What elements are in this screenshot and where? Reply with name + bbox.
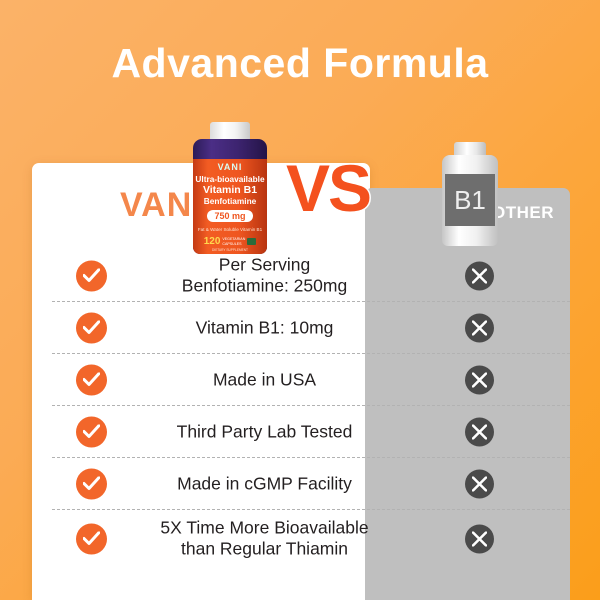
page-title: Advanced Formula <box>0 40 600 87</box>
feature-line1: Third Party Lab Tested <box>177 421 353 441</box>
cross-icon <box>465 525 494 554</box>
other-bottle-image: B1 <box>440 142 500 246</box>
other-bottle-label-text: B1 <box>454 185 486 216</box>
bottle-seal-badge <box>247 238 256 245</box>
product-bottle-image: VANI Ultra-bioavailable Vitamin B1 Benfo… <box>188 122 272 254</box>
check-icon <box>76 365 107 396</box>
feature-row: Third Party Lab Tested <box>32 406 570 458</box>
bottle-count-sub: VEGETARIAN CAPSULES <box>222 237 245 245</box>
cross-icon <box>465 366 494 395</box>
feature-line1: Vitamin B1: 10mg <box>196 317 334 337</box>
feature-row: 5X Time More Bioavailable than Regular T… <box>32 510 570 568</box>
check-icon <box>76 417 107 448</box>
cross-icon <box>465 470 494 499</box>
feature-line1: 5X Time More Bioavailable <box>160 518 368 538</box>
feature-line2: than Regular Thiamin <box>142 539 387 560</box>
check-icon <box>76 261 107 292</box>
other-bottle-label: B1 <box>445 174 495 226</box>
bottle-count: 120 <box>204 236 221 247</box>
feature-text: Vitamin B1: 10mg <box>142 317 387 338</box>
feature-row: Made in cGMP Facility <box>32 458 570 510</box>
bottle-line2: Vitamin B1 <box>193 184 267 196</box>
feature-text: Per Serving Benfotiamine: 250mg <box>142 255 387 298</box>
vs-label: VS <box>286 150 370 226</box>
bottle-label: VANI Ultra-bioavailable Vitamin B1 Benfo… <box>193 159 267 254</box>
feature-text: Made in cGMP Facility <box>142 473 387 494</box>
bottle-dose-badge: 750 mg <box>207 210 252 222</box>
feature-row: Made in USA <box>32 354 570 406</box>
bottle-line1: Ultra-bioavailable <box>193 174 267 184</box>
cross-icon <box>465 262 494 291</box>
feature-text: Made in USA <box>142 369 387 390</box>
feature-line2: Benfotiamine: 250mg <box>142 276 387 297</box>
bottle-supplement-text: DIETARY SUPPLEMENT <box>193 248 267 252</box>
feature-row: Vitamin B1: 10mg <box>32 302 570 354</box>
cross-icon <box>465 314 494 343</box>
feature-comparison-list: Per Serving Benfotiamine: 250mg Vitamin … <box>32 250 570 568</box>
bottle-count-line2: CAPSULES <box>222 242 241 246</box>
cross-icon <box>465 418 494 447</box>
feature-line1: Made in USA <box>213 369 316 389</box>
bottle-brand-text: VANI <box>193 162 267 172</box>
check-icon <box>76 313 107 344</box>
check-icon <box>76 524 107 555</box>
feature-text: Third Party Lab Tested <box>142 421 387 442</box>
check-icon <box>76 469 107 500</box>
feature-row: Per Serving Benfotiamine: 250mg <box>32 250 570 302</box>
bottle-descriptor: Fat & Water Soluble Vitamin B1 <box>193 227 267 232</box>
feature-line1: Per Serving <box>219 255 310 275</box>
other-column-label: OTHER <box>492 203 554 223</box>
feature-line1: Made in cGMP Facility <box>177 473 352 493</box>
feature-text: 5X Time More Bioavailable than Regular T… <box>142 518 387 561</box>
bottle-count-group: 120 VEGETARIAN CAPSULES <box>193 236 267 247</box>
bottle-line3: Benfotiamine <box>193 196 267 206</box>
